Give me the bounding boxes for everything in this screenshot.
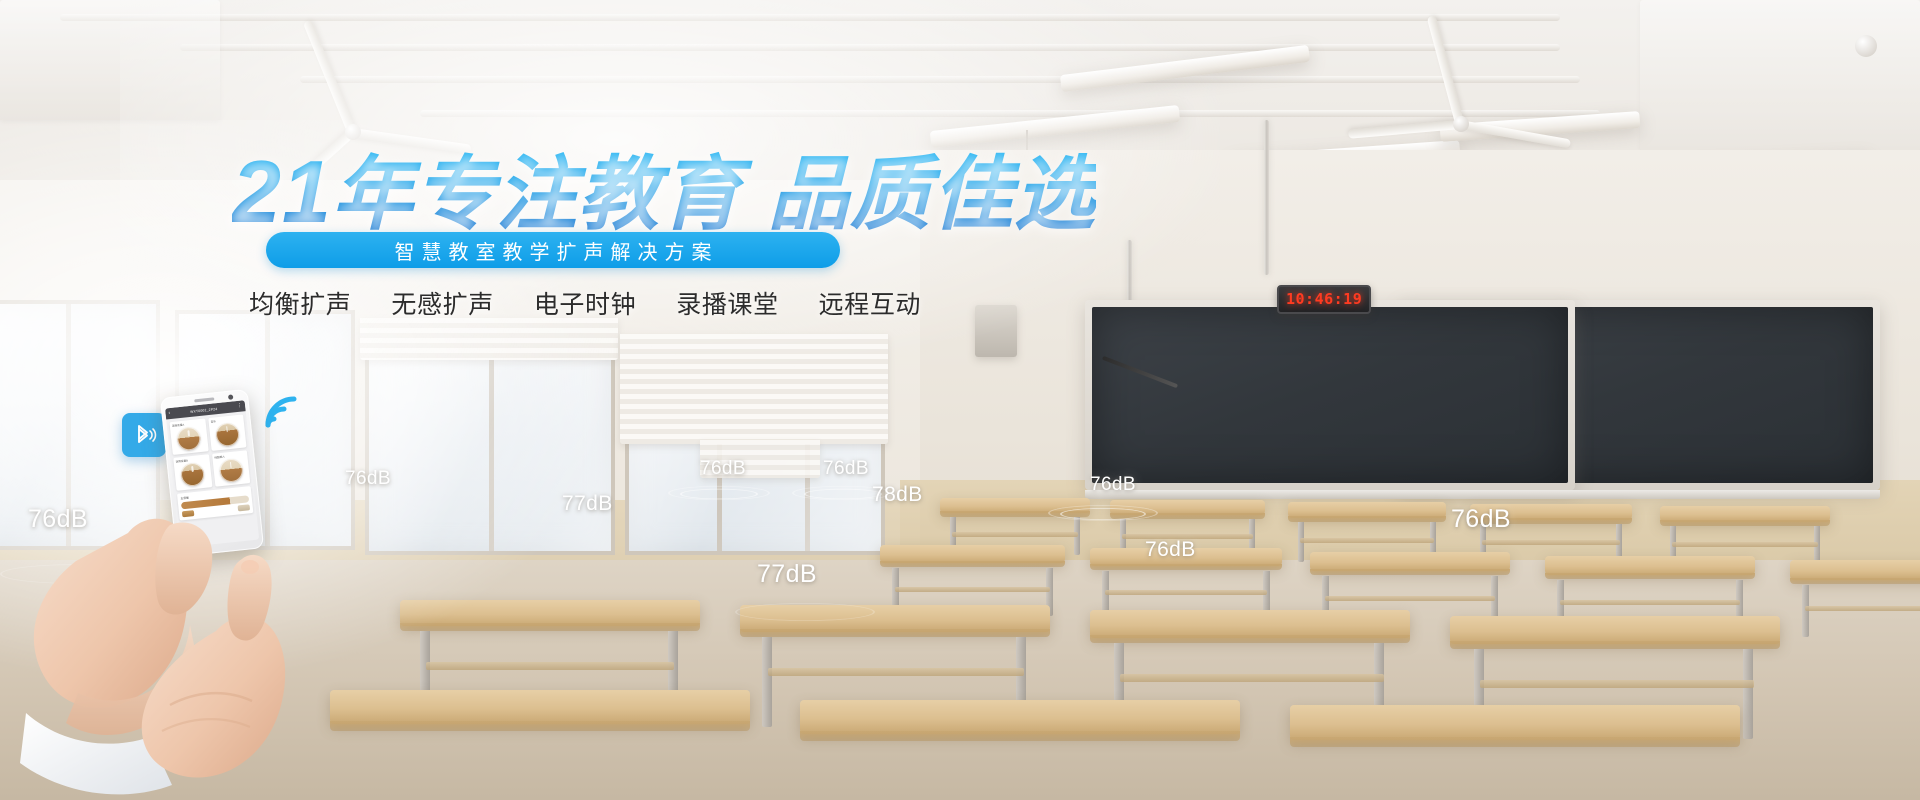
feature-item-3: 录播课堂 bbox=[676, 285, 778, 321]
db-marker: 76dB bbox=[1090, 474, 1136, 496]
feature-item-0: 均衡扩声 bbox=[249, 285, 351, 321]
rotary-knob[interactable] bbox=[215, 422, 240, 447]
control-card[interactable]: 话筒音量A bbox=[169, 418, 208, 455]
db-marker: 76dB bbox=[1451, 505, 1511, 534]
feature-list: 均衡扩声 无感扩声 电子时钟 录播课堂 远程互动 bbox=[249, 285, 921, 321]
db-marker: 77dB bbox=[562, 492, 613, 516]
hero-overlay: 21年专注教育品质佳选 智慧教室教学扩声解决方案 均衡扩声 无感扩声 电子时钟 … bbox=[0, 0, 1920, 800]
subtitle-pill-label: 智慧教室教学扩声解决方案 bbox=[388, 236, 719, 265]
phone-front-camera bbox=[228, 394, 233, 399]
db-marker: 76dB bbox=[823, 458, 869, 480]
db-marker: 77dB bbox=[757, 560, 817, 589]
page-title: 21年专注教育品质佳选 bbox=[232, 148, 1096, 236]
app-title: WXT0002_2P24 bbox=[190, 407, 218, 414]
db-marker: 78dB bbox=[872, 483, 923, 507]
back-icon[interactable]: ‹ bbox=[168, 411, 170, 416]
subtitle-pill: 智慧教室教学扩声解决方案 bbox=[266, 232, 840, 268]
rotary-knob[interactable] bbox=[176, 426, 201, 451]
db-marker: 76dB bbox=[1145, 538, 1196, 562]
headline-secondary: 品质佳选 bbox=[768, 150, 1096, 240]
control-card[interactable]: 音乐 bbox=[208, 414, 247, 451]
bluetooth-badge[interactable] bbox=[122, 413, 166, 457]
phone-earpiece bbox=[194, 397, 214, 402]
more-vertical-icon[interactable]: ⋮ bbox=[237, 403, 242, 408]
hand-holding-phone bbox=[20, 455, 450, 800]
db-marker: 76dB bbox=[700, 458, 746, 480]
wifi-signal-icon bbox=[262, 385, 308, 436]
feature-item-2: 电子时钟 bbox=[534, 285, 636, 321]
headline-number: 21 bbox=[232, 142, 332, 241]
headline-main: 年专注教育 bbox=[332, 150, 742, 240]
bluetooth-icon bbox=[129, 420, 159, 450]
feature-item-1: 无感扩声 bbox=[391, 285, 493, 321]
card-row: 话筒音量A 音乐 bbox=[169, 414, 246, 455]
feature-item-4: 远程互动 bbox=[819, 285, 921, 321]
